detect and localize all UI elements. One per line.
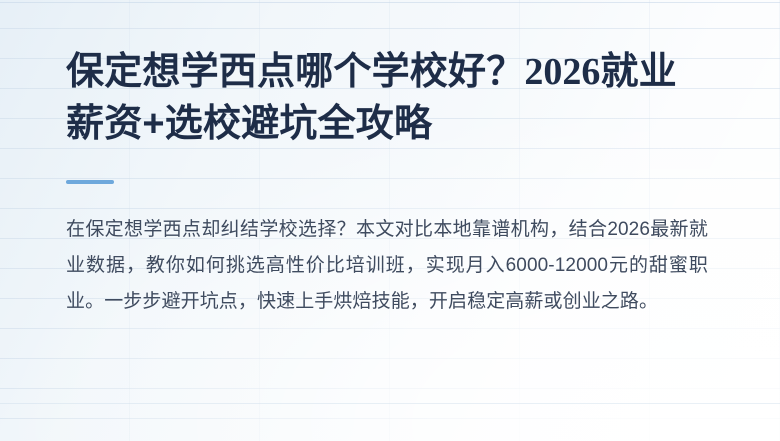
page-title-segment-1: 保定想学西点哪个学校好？ [66,51,524,93]
accent-divider-rule [66,180,114,184]
article-summary: 在保定想学西点却纠结学校选择？本文对比本地靠谱机构，结合2026最新就业数据，教… [66,212,708,320]
slide-content: 保定想学西点哪个学校好？2026就业薪资+选校避坑全攻略 在保定想学西点却纠结学… [66,46,726,320]
article-cover-slide: 保定想学西点哪个学校好？2026就业薪资+选校避坑全攻略 在保定想学西点却纠结学… [0,0,780,441]
page-title: 保定想学西点哪个学校好？2026就业薪资+选校避坑全攻略 [66,46,712,150]
page-title-segment-2: 就 [600,51,638,93]
bottom-hairline-divider [0,403,780,404]
top-hairline-divider [0,2,780,3]
page-title-year: 2026 [524,51,600,93]
